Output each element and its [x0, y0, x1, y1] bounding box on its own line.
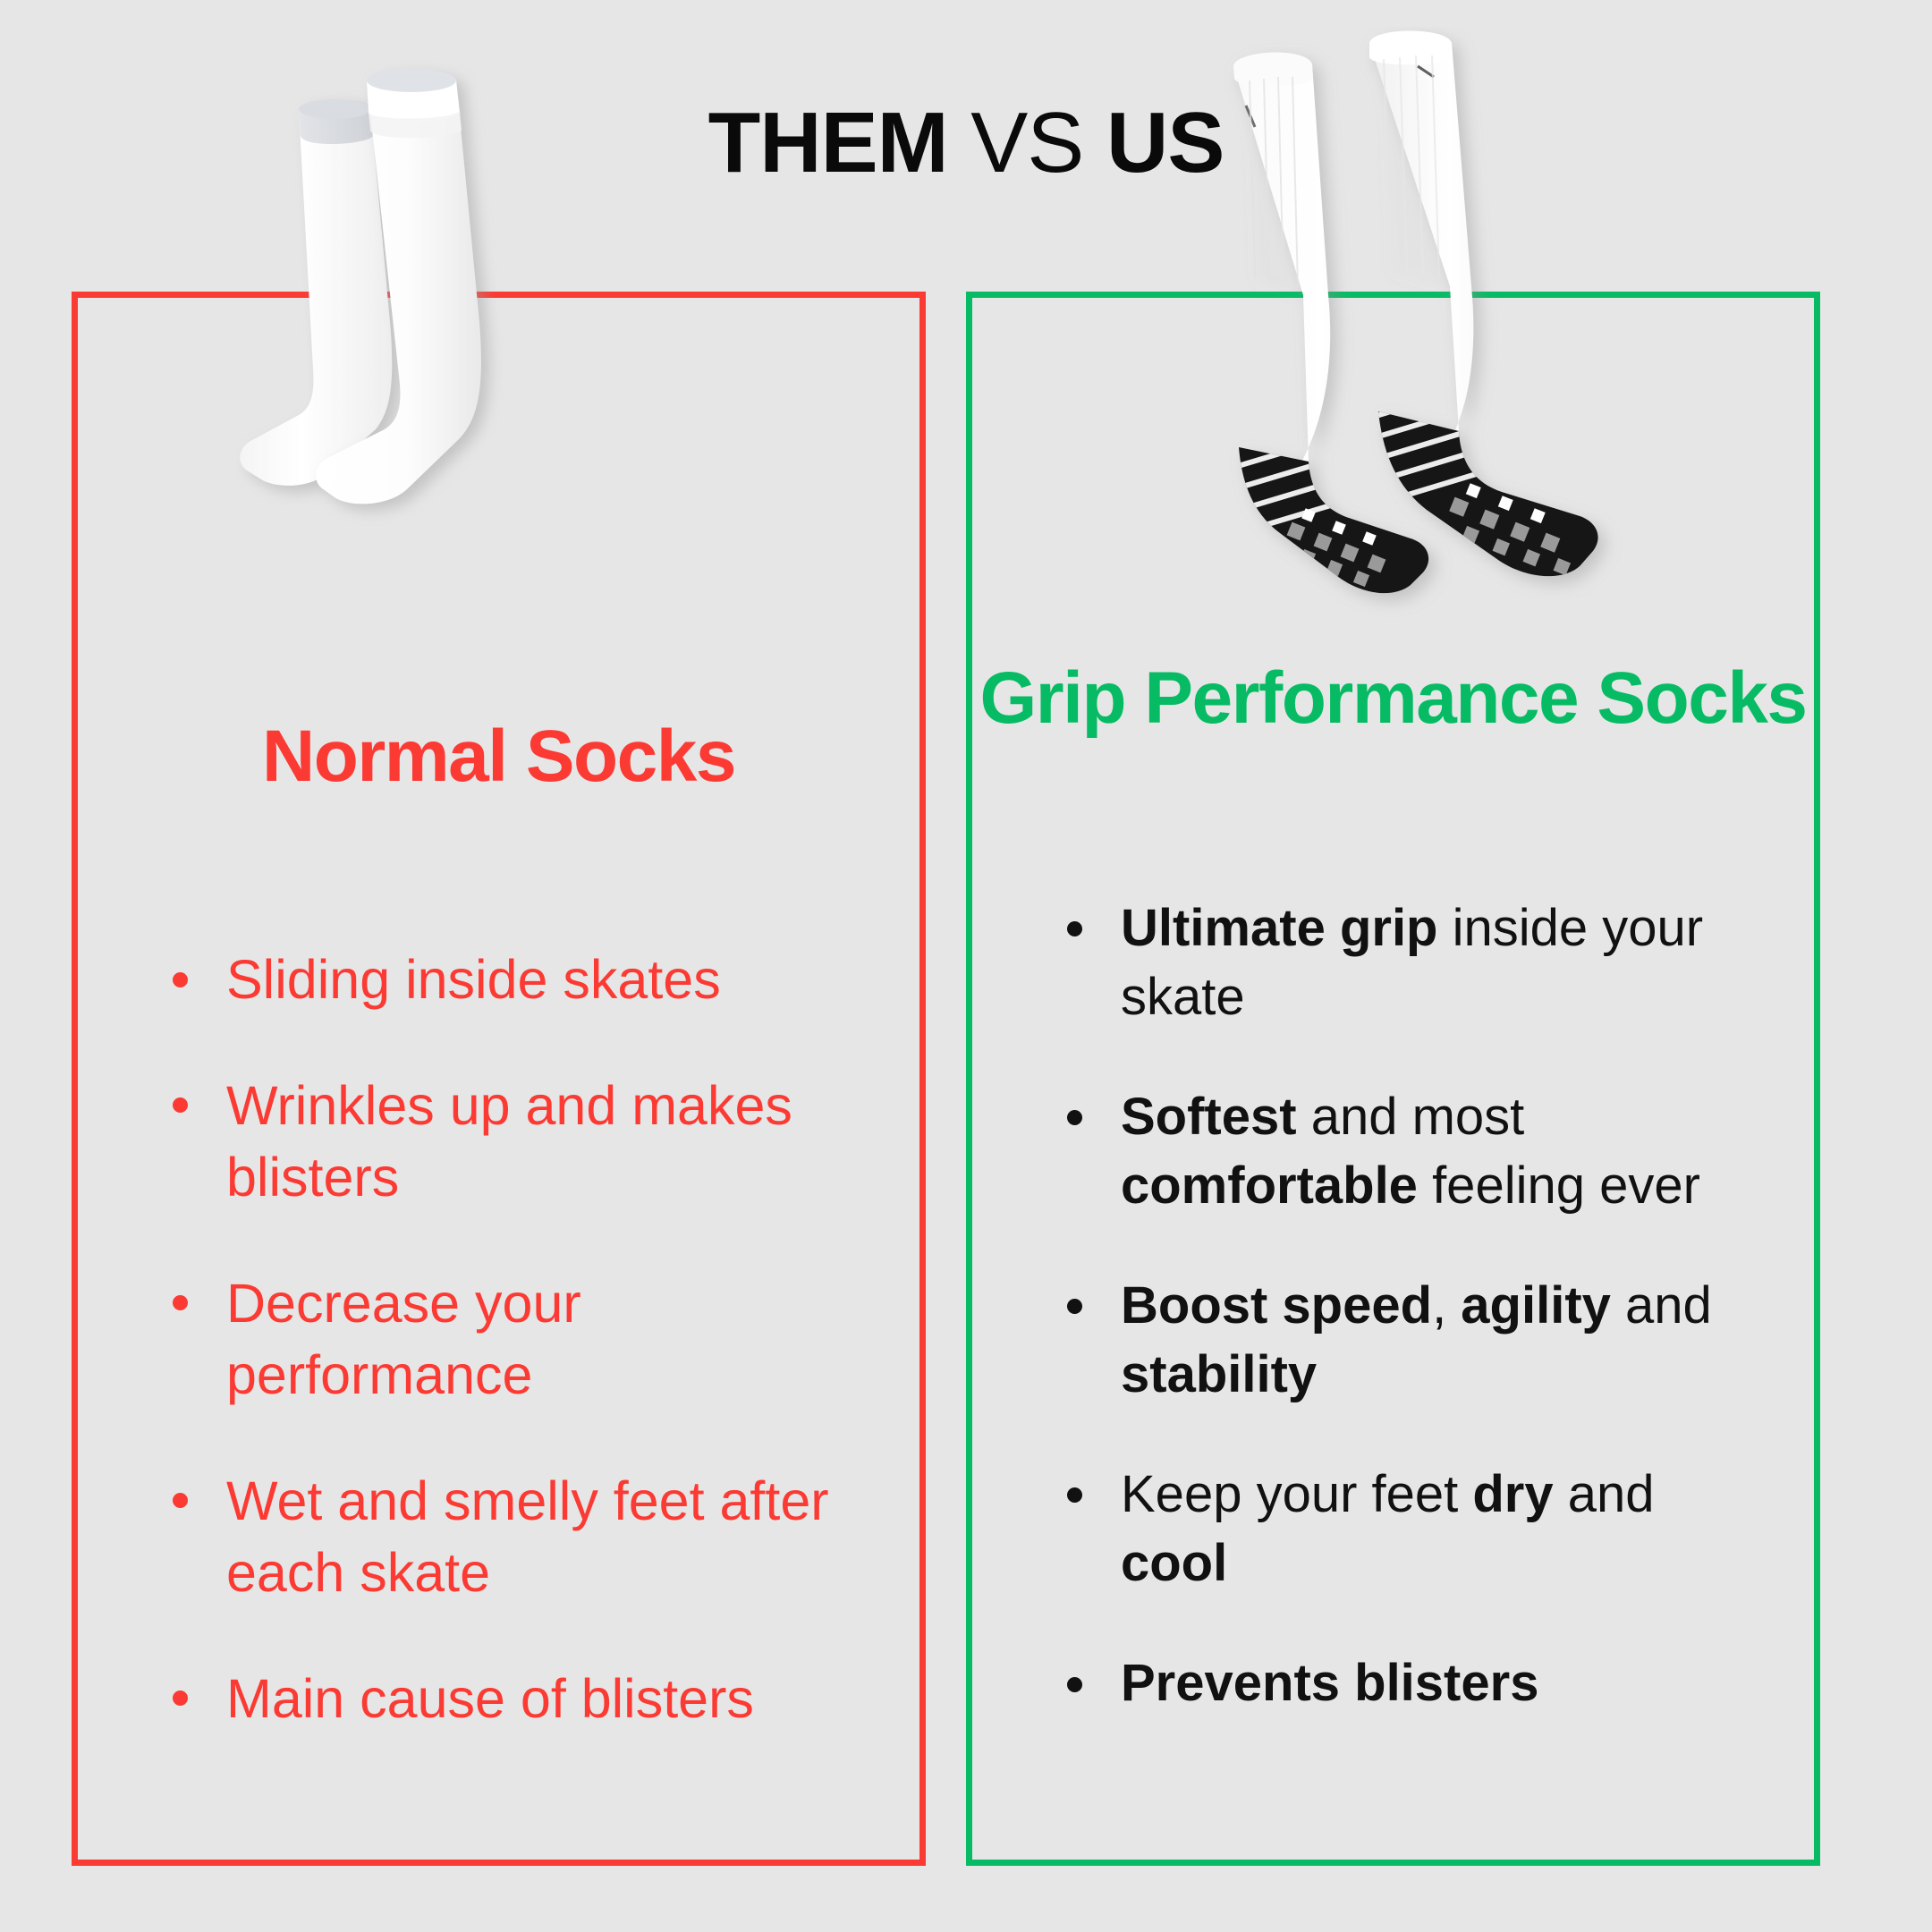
- right-bullet-item: Softest and most comfortable feeling eve…: [1060, 1083, 1767, 1220]
- right-column-heading: Grip Performance Socks: [966, 657, 1820, 740]
- right-bullet-item-label: Keep your feet dry and cool: [1121, 1465, 1655, 1592]
- infographic-canvas: THEM VS US Normal Socks Grip Performance…: [0, 0, 1932, 1932]
- page-title: THEM VS US: [0, 100, 1932, 186]
- right-bullet-item-label: Boost speed, agility and stability: [1121, 1276, 1712, 1403]
- bullet-dot-icon: [173, 1690, 188, 1706]
- left-bullet-list: Sliding inside skatesWrinkles up and mak…: [165, 944, 872, 1734]
- left-bullet-item-label: Wet and smelly feet after each skate: [226, 1470, 829, 1604]
- left-column-heading: Normal Socks: [72, 716, 926, 798]
- left-bullet-item: Wet and smelly feet after each skate: [165, 1465, 872, 1609]
- left-bullet-item: Wrinkles up and makes blisters: [165, 1070, 872, 1214]
- title-them: THEM: [708, 95, 948, 191]
- bullet-dot-icon: [1067, 1677, 1082, 1692]
- right-bullet-item: Keep your feet dry and cool: [1060, 1461, 1767, 1597]
- bullet-dot-icon: [173, 1493, 188, 1508]
- bullet-dot-icon: [1067, 1487, 1082, 1503]
- bullet-dot-icon: [1067, 1110, 1082, 1125]
- left-bullet-item: Sliding inside skates: [165, 944, 872, 1016]
- right-bullet-item-label: Prevents blisters: [1121, 1654, 1538, 1712]
- right-bullet-list: Ultimate grip inside your skateSoftest a…: [1060, 894, 1767, 1718]
- left-bullet-item-label: Sliding inside skates: [226, 949, 721, 1010]
- left-bullet-item-label: Main cause of blisters: [226, 1668, 754, 1729]
- title-us: US: [1106, 95, 1224, 191]
- right-bullet-item: Boost speed, agility and stability: [1060, 1272, 1767, 1409]
- bullet-dot-icon: [173, 1295, 188, 1310]
- bullet-dot-icon: [1067, 1299, 1082, 1314]
- bullet-dot-icon: [173, 1097, 188, 1113]
- left-bullet-item-label: Decrease your performance: [226, 1273, 581, 1406]
- title-vs: VS: [948, 95, 1106, 191]
- bullet-dot-icon: [1067, 921, 1082, 936]
- right-bullet-item-label: Softest and most comfortable feeling eve…: [1121, 1088, 1700, 1215]
- left-bullet-item: Decrease your performance: [165, 1267, 872, 1411]
- bullet-dot-icon: [173, 972, 188, 987]
- left-bullet-item-label: Wrinkles up and makes blisters: [226, 1075, 792, 1208]
- left-bullet-item: Main cause of blisters: [165, 1663, 872, 1735]
- right-bullet-item: Ultimate grip inside your skate: [1060, 894, 1767, 1031]
- right-bullet-item-label: Ultimate grip inside your skate: [1121, 899, 1703, 1026]
- right-bullet-item: Prevents blisters: [1060, 1649, 1767, 1718]
